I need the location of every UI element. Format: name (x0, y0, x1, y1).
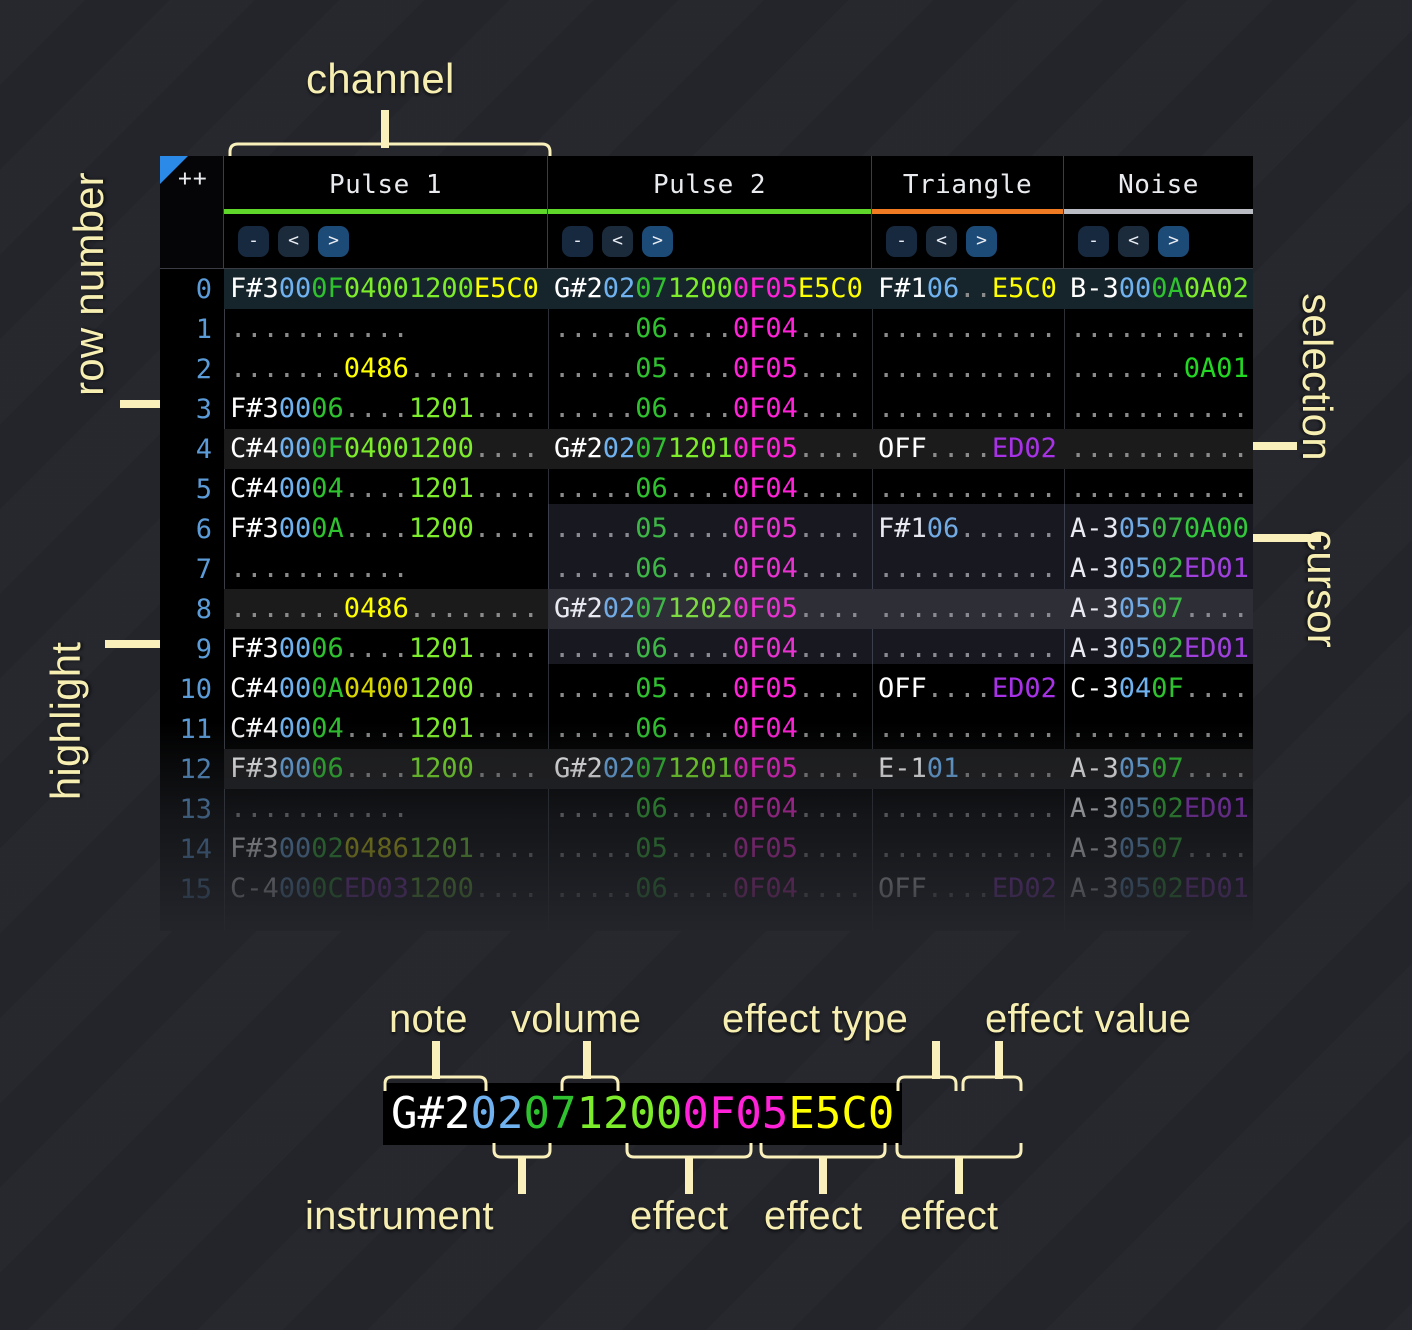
cell-segment-vol: 07 (635, 753, 668, 784)
channel-buttons-pulse2[interactable]: - < > (548, 214, 872, 268)
pattern-row[interactable]: 9F#30006....1201.........06....0F04.....… (160, 629, 1253, 669)
pattern-body[interactable]: 0F#3000F04001200E5C0G#2020712000F05E5C0F… (160, 269, 1253, 931)
cell-segment-fxy: E5C0 (798, 273, 863, 304)
cell-segment-dot: .... (798, 353, 863, 384)
annotation-row-number: row number (65, 172, 113, 396)
pattern-cell[interactable]: .......0486........ (230, 589, 539, 629)
pattern-cell[interactable]: C#40004....1201.... (230, 469, 539, 509)
cell-segment-note: F#3 (230, 513, 279, 544)
tracker-grid[interactable]: ++ Pulse 1 - < > Pulse 2 - < > Triangle … (160, 156, 1253, 931)
row-cells[interactable]: F#3000F04001200E5C0G#2020712000F05E5C0F#… (224, 269, 1253, 309)
channel-header-pulse2[interactable]: Pulse 2 (548, 156, 872, 214)
row-cells[interactable]: F#30006....1200....G#2020712010F05....E-… (224, 749, 1253, 789)
annotation-effect-type: effect type (722, 997, 908, 1042)
cell-segment-note: C#4 (230, 433, 279, 464)
cell-segment-inst: 04 (1119, 673, 1152, 704)
cell-segment-dot: .... (798, 393, 863, 424)
pattern-cell[interactable]: F#30006....1201.... (230, 389, 539, 429)
cell-segment-dot: .... (344, 473, 409, 504)
cell-segment-vol: 04 (311, 473, 344, 504)
cell-segment-dot: ..... (554, 353, 635, 384)
pattern-cell[interactable]: .....06....0F04.... (554, 389, 863, 429)
mute-button[interactable]: - (238, 226, 269, 257)
cell-segment-fxg: 1200 (409, 873, 474, 904)
pattern-row[interactable]: 13................06....0F04............… (160, 789, 1253, 829)
row-cells[interactable]: ................06....0F04..............… (224, 789, 1253, 829)
row-number: 11 (160, 714, 224, 745)
cell-segment-dot: .... (344, 753, 409, 784)
cell-segment-fxm: 0F05 (733, 273, 798, 304)
row-number: 15 (160, 874, 224, 905)
pattern-cell[interactable]: ........... (1070, 429, 1249, 469)
cell-segment-vol: 0F (311, 433, 344, 464)
cell-segment-note: F#3 (230, 273, 279, 304)
row-cells[interactable]: .......0486........G#2020712020F05......… (224, 589, 1253, 629)
cell-segment-fxp: ED03 (344, 873, 409, 904)
pattern-cell[interactable]: F#106...... (878, 509, 1057, 549)
cell-segment-vol: 05 (635, 353, 668, 384)
row-number: 9 (160, 634, 224, 665)
row-cells[interactable]: C#40004....1201.........06....0F04......… (224, 469, 1253, 509)
pattern-cell[interactable]: ........... (1070, 469, 1249, 509)
pattern-row[interactable]: 10C#4000A04001200.........05....0F05....… (160, 669, 1253, 709)
cell-segment-dot: ........ (409, 353, 539, 384)
cell-segment-dot: ........... (1070, 393, 1249, 424)
cell-segment-fxm: 0F05 (733, 353, 798, 384)
cell-segment-inst: 05 (1119, 753, 1152, 784)
cell-segment-fxp: ED01 (1184, 553, 1249, 584)
cell-segment-inst: 00 (279, 273, 312, 304)
cell-segment-dot: ..... (554, 553, 635, 584)
pattern-cell[interactable]: G#2020712010F05.... (554, 429, 863, 469)
annotation-volume: volume (511, 997, 641, 1042)
cell-segment-dot: ..... (554, 833, 635, 864)
cell-segment-note: C#4 (230, 473, 279, 504)
row-cells[interactable]: F#30006....1201.........06....0F04......… (224, 629, 1253, 669)
cell-segment-dot: ....... (1070, 353, 1184, 384)
pattern-cell[interactable]: ........... (878, 709, 1057, 749)
cell-segment-note: A-3 (1070, 873, 1119, 904)
pattern-cell[interactable]: A-30502ED01 (1070, 789, 1249, 829)
row-number: 1 (160, 314, 224, 345)
row-number: 6 (160, 514, 224, 545)
row-cells[interactable]: C#4000F04001200....G#2020712010F05....OF… (224, 429, 1253, 469)
cell-segment-fxg: 1201 (409, 393, 474, 424)
cell-segment-inst: 00 (279, 753, 312, 784)
cell-segment-dot: ..... (554, 513, 635, 544)
pattern-cell[interactable]: ........... (878, 469, 1057, 509)
prev-button[interactable]: < (926, 226, 957, 257)
cell-segment-vol2: 0A01 (1184, 353, 1249, 384)
pattern-row[interactable]: 14F#3000204861201.........05....0F05....… (160, 829, 1253, 869)
pattern-cell[interactable]: ........... (878, 389, 1057, 429)
row-number: 3 (160, 394, 224, 425)
row-cells[interactable]: F#3000A....1200.........05....0F05....F#… (224, 509, 1253, 549)
pattern-row[interactable]: 12F#30006....1200....G#2020712010F05....… (160, 749, 1253, 789)
pattern-cell[interactable]: F#30006....1201.... (230, 629, 539, 669)
row-cells[interactable]: .......0486.............05....0F05......… (224, 349, 1253, 389)
pattern-cell[interactable]: ........... (878, 829, 1057, 869)
annotation-instrument: instrument (305, 1194, 494, 1239)
pattern-cell[interactable]: ........... (878, 349, 1057, 389)
pattern-cell[interactable]: .....05....0F05.... (554, 349, 863, 389)
cell-segment-dot: .... (668, 353, 733, 384)
pattern-cell[interactable]: C#4000A04001200.... (230, 669, 539, 709)
cell-segment-fxg: 0400 (344, 433, 409, 464)
row-cells[interactable]: C#40004....1201.........06....0F04......… (224, 709, 1253, 749)
cell-segment-vol: 06 (635, 793, 668, 824)
pattern-cell[interactable]: G#2020712010F05.... (554, 749, 863, 789)
pattern-cell[interactable]: G#2020712000F05E5C0 (554, 269, 863, 309)
pattern-cell[interactable]: .....06....0F04.... (554, 309, 863, 349)
pattern-row[interactable]: 2.......0486.............05....0F05.....… (160, 349, 1253, 389)
cell-segment-vol: 06 (635, 873, 668, 904)
cell-segment-dot: ........... (230, 313, 409, 344)
cell-segment-vol: 05 (635, 513, 668, 544)
cell-segment-vol: 06 (311, 753, 344, 784)
cell-segment-dot: .... (798, 673, 863, 704)
cell-segment-inst: 05 (1119, 513, 1152, 544)
cell-segment-fxm: 0F04 (733, 713, 798, 744)
legend-segment-fxg: 1200 (576, 1088, 682, 1139)
cell-segment-dot: ........... (878, 313, 1057, 344)
cell-segment-note: F#3 (230, 633, 279, 664)
cell-segment-vol: 0C (311, 873, 344, 904)
row-number: 5 (160, 474, 224, 505)
effect-type-leader-line (932, 1041, 940, 1079)
cell-segment-fxm: 0F04 (733, 553, 798, 584)
cell-segment-vol2: 0A00 (1184, 513, 1249, 544)
pattern-cell[interactable]: ........... (1070, 309, 1249, 349)
cell-segment-dot: .... (1184, 593, 1249, 624)
cell-segment-dot: .... (668, 313, 733, 344)
pattern-cell[interactable]: F#3000F04001200E5C0 (230, 269, 539, 309)
cell-segment-note: A-3 (1070, 633, 1119, 664)
pattern-row[interactable]: 4C#4000F04001200....G#2020712010F05....O… (160, 429, 1253, 469)
pattern-cell[interactable]: ........... (878, 629, 1057, 669)
mute-button[interactable]: - (1078, 226, 1109, 257)
cell-segment-dot: .... (474, 633, 539, 664)
cell-segment-inst: 02 (603, 593, 636, 624)
cell-segment-fxg: 1200 (668, 273, 733, 304)
pattern-cell[interactable]: G#2020712020F05.... (554, 589, 863, 629)
channel-header-pulse1[interactable]: Pulse 1 (224, 156, 548, 214)
prev-button[interactable]: < (278, 226, 309, 257)
mute-button[interactable]: - (886, 226, 917, 257)
legend-segment-fxm: 0F05 (682, 1088, 788, 1139)
cell-segment-dot: ........... (878, 393, 1057, 424)
pattern-cell[interactable]: ........... (878, 589, 1057, 629)
cell-segment-inst: 00 (279, 633, 312, 664)
cell-segment-dot: .... (474, 513, 539, 544)
pattern-cell[interactable]: ........... (1070, 709, 1249, 749)
cell-segment-inst: 02 (603, 273, 636, 304)
cell-segment-dot: ..... (554, 873, 635, 904)
pattern-cell[interactable]: F#106..E5C0 (878, 269, 1057, 309)
pattern-cell[interactable]: A-30502ED01 (1070, 869, 1249, 909)
cell-segment-dot: ........... (878, 593, 1057, 624)
pattern-row[interactable]: 7................06....0F04.............… (160, 549, 1253, 589)
channel-header-triangle[interactable]: Triangle (872, 156, 1064, 214)
cell-segment-fxp: ED01 (1184, 633, 1249, 664)
pattern-cell[interactable]: C#40004....1201.... (230, 709, 539, 749)
row-number: 12 (160, 754, 224, 785)
cell-segment-fxm: 0F05 (733, 593, 798, 624)
pattern-cell[interactable]: A-30502ED01 (1070, 549, 1249, 589)
row-number: 14 (160, 834, 224, 865)
cell-segment-note: G#2 (554, 433, 603, 464)
pattern-cell[interactable]: ........... (230, 549, 409, 589)
pattern-cell[interactable]: OFF....ED02 (878, 429, 1057, 469)
cell-segment-note: F#1 (878, 273, 927, 304)
pattern-row[interactable]: 6F#3000A....1200.........05....0F05....F… (160, 509, 1253, 549)
cell-segment-dot: .... (668, 793, 733, 824)
cell-segment-vol: 05 (635, 673, 668, 704)
cell-segment-dot: ........... (1070, 713, 1249, 744)
pattern-cell[interactable]: ........... (878, 789, 1057, 829)
cell-segment-fxm: 0F04 (733, 473, 798, 504)
cell-segment-dot: .... (927, 873, 992, 904)
pattern-cell[interactable]: A-30507.... (1070, 749, 1249, 789)
cell-segment-dot: .... (798, 793, 863, 824)
cell-segment-dot: .... (798, 313, 863, 344)
pattern-cell[interactable]: C#4000F04001200.... (230, 429, 539, 469)
cell-segment-note: C#4 (230, 713, 279, 744)
channel-name: Pulse 2 (653, 170, 766, 200)
cell-segment-dot: ........... (878, 473, 1057, 504)
channel-buttons-noise[interactable]: - < > (1064, 214, 1253, 268)
cell-segment-fxm: 0F04 (733, 393, 798, 424)
cell-segment-dot: .... (474, 473, 539, 504)
pattern-cell[interactable]: .....05....0F05.... (554, 829, 863, 869)
cell-segment-vol: 02 (1151, 873, 1184, 904)
legend-pattern-cell: G#2020712000F05E5C0 (383, 1083, 902, 1145)
row-cells[interactable]: C-4000CED031200.........06....0F04....OF… (224, 869, 1253, 909)
next-button[interactable]: > (318, 226, 349, 257)
pattern-cell[interactable]: A-30502ED01 (1070, 629, 1249, 669)
annotation-note: note (389, 997, 468, 1042)
legend-segment-note: G#2 (391, 1088, 470, 1139)
effect2-leader-line (819, 1156, 827, 1194)
pattern-row[interactable]: 8.......0486........G#2020712020F05.....… (160, 589, 1253, 629)
cell-segment-dot: .... (798, 553, 863, 584)
pattern-cell[interactable]: .....06....0F04.... (554, 709, 863, 749)
row-cells[interactable]: ................06....0F04..............… (224, 309, 1253, 349)
note-bracket (383, 1075, 488, 1091)
row-number: 10 (160, 674, 224, 705)
pattern-cell[interactable]: .....06....0F04.... (554, 549, 863, 589)
cell-segment-vol: 06 (311, 633, 344, 664)
cell-segment-note: B-3 (1070, 273, 1119, 304)
cell-segment-dot: ...... (959, 753, 1057, 784)
cell-segment-fxg: 1200 (409, 433, 474, 464)
pattern-cell[interactable]: A-305070A00 (1070, 509, 1249, 549)
cell-segment-dot: .... (668, 713, 733, 744)
cell-segment-fxg: 1201 (409, 713, 474, 744)
pattern-cell[interactable]: .....06....0F04.... (554, 789, 863, 829)
cell-segment-vol: 07 (635, 593, 668, 624)
cell-segment-dot: ..... (554, 673, 635, 704)
pattern-cell[interactable]: .....05....0F05.... (554, 669, 863, 709)
pattern-cell[interactable]: OFF....ED02 (878, 869, 1057, 909)
cell-segment-note: A-3 (1070, 833, 1119, 864)
prev-button[interactable]: < (602, 226, 633, 257)
cell-segment-vol: 06 (635, 393, 668, 424)
channel-buttons-triangle[interactable]: - < > (872, 214, 1064, 268)
cell-segment-vol: 04 (311, 713, 344, 744)
pattern-cell[interactable]: .......0486........ (230, 349, 539, 389)
cell-segment-dot: .... (798, 633, 863, 664)
cell-segment-dot: ...... (959, 513, 1057, 544)
cell-segment-vol: 0F (311, 273, 344, 304)
cell-segment-vol: 07 (1151, 833, 1184, 864)
channel-header-noise[interactable]: Noise (1064, 156, 1253, 214)
cell-segment-inst: 00 (279, 673, 312, 704)
pattern-cell[interactable]: F#3000A....1200.... (230, 509, 539, 549)
row-cells[interactable]: F#30006....1201.........06....0F04......… (224, 389, 1253, 429)
cell-segment-fxg: 1201 (668, 753, 733, 784)
cell-segment-dot: .... (668, 513, 733, 544)
cell-segment-dot: ........ (409, 593, 539, 624)
prev-button[interactable]: < (1118, 226, 1149, 257)
row-number: 2 (160, 354, 224, 385)
pattern-cell[interactable]: .......0A01 (1070, 349, 1249, 389)
cell-segment-vol: 0A (1151, 273, 1184, 304)
cell-segment-note: A-3 (1070, 793, 1119, 824)
pattern-cell[interactable]: ........... (230, 789, 409, 829)
cell-segment-fxg: 1200 (409, 273, 474, 304)
pattern-cell[interactable]: .....06....0F04.... (554, 869, 863, 909)
cell-segment-dot: .... (668, 833, 733, 864)
pattern-cell[interactable]: ........... (878, 309, 1057, 349)
cell-segment-dot: ........... (1070, 313, 1249, 344)
pattern-cell[interactable]: E-101...... (878, 749, 1057, 789)
cell-segment-dot: ........... (1070, 473, 1249, 504)
pattern-cell[interactable]: ........... (230, 309, 409, 349)
pattern-cell[interactable]: F#3000204861201.... (230, 829, 539, 869)
channel-name: Triangle (903, 170, 1032, 200)
pattern-cell[interactable]: C-3040F.... (1070, 669, 1249, 709)
channel-name: Pulse 1 (329, 170, 442, 200)
pattern-cell[interactable]: B-3000A0A02 (1070, 269, 1249, 309)
cell-segment-dot: .... (798, 713, 863, 744)
annotation-highlight: highlight (42, 642, 90, 800)
cell-segment-dot: ..... (554, 633, 635, 664)
cell-segment-dot: ..... (554, 393, 635, 424)
cell-segment-dot: ..... (554, 473, 635, 504)
cell-segment-fxg: 1201 (409, 633, 474, 664)
cell-segment-dot: ........... (878, 713, 1057, 744)
pattern-cell[interactable]: F#30006....1200.... (230, 749, 539, 789)
pattern-cell[interactable]: A-30507.... (1070, 829, 1249, 869)
row-cells[interactable]: C#4000A04001200.........05....0F05....OF… (224, 669, 1253, 709)
pattern-row[interactable]: 11C#40004....1201.........06....0F04....… (160, 709, 1253, 749)
next-button[interactable]: > (642, 226, 673, 257)
channel-name: Noise (1118, 170, 1199, 200)
cell-segment-fxm: 0F04 (733, 633, 798, 664)
cell-segment-fxg: 1200 (409, 673, 474, 704)
pattern-cell[interactable]: C-4000CED031200.... (230, 869, 539, 909)
row-cells[interactable]: ................06....0F04..............… (224, 549, 1253, 589)
cell-segment-dot: .... (1184, 833, 1249, 864)
effect1-leader-line (685, 1156, 693, 1194)
cell-segment-dot: ..... (554, 313, 635, 344)
annotation-effect-3: effect (900, 1194, 998, 1239)
effect-value-leader-line (995, 1041, 1003, 1079)
cell-segment-fxg: 1201 (409, 833, 474, 864)
pattern-cell[interactable]: .....06....0F04.... (554, 469, 863, 509)
next-button[interactable]: > (1158, 226, 1189, 257)
cell-segment-fxp: ED02 (992, 873, 1057, 904)
note-leader-line (432, 1041, 440, 1079)
cell-segment-fxm: 0F05 (733, 433, 798, 464)
cell-segment-dot: .... (798, 473, 863, 504)
cell-segment-dot: .... (474, 873, 539, 904)
cell-segment-vol: 07 (635, 433, 668, 464)
row-number: 4 (160, 434, 224, 465)
row-number-header[interactable]: ++ (160, 156, 224, 268)
pattern-row[interactable]: 3F#30006....1201.........06....0F04.....… (160, 389, 1253, 429)
pattern-row[interactable]: 1................06....0F04.............… (160, 309, 1253, 349)
mute-button[interactable]: - (562, 226, 593, 257)
pattern-row[interactable]: 5C#40004....1201.........06....0F04.....… (160, 469, 1253, 509)
cell-segment-fxg: 1201 (409, 473, 474, 504)
pattern-cell[interactable]: OFF....ED02 (878, 669, 1057, 709)
cell-segment-fxy: E5C0 (474, 273, 539, 304)
cell-segment-fxm: 0F05 (733, 513, 798, 544)
cell-segment-dot: .... (668, 673, 733, 704)
pattern-row[interactable]: 0F#3000F04001200E5C0G#2020712000F05E5C0F… (160, 269, 1253, 309)
cell-segment-note: E-1 (878, 753, 927, 784)
pattern-cell[interactable]: ........... (878, 549, 1057, 589)
cell-segment-note: C-4 (230, 873, 279, 904)
pattern-cell[interactable]: .....05....0F05.... (554, 509, 863, 549)
cell-segment-note: A-3 (1070, 593, 1119, 624)
cell-segment-dot: ........... (878, 633, 1057, 664)
cell-segment-inst: 06 (927, 273, 960, 304)
cell-segment-fxy2: 0400 (344, 673, 409, 704)
pattern-cell[interactable]: ........... (1070, 389, 1249, 429)
cell-segment-dot: .... (668, 873, 733, 904)
cell-segment-dot: .... (474, 833, 539, 864)
cell-segment-dot: .... (927, 433, 992, 464)
instrument-leader-line (518, 1156, 526, 1194)
volume-leader-line (583, 1041, 591, 1079)
pattern-cell[interactable]: A-30507.... (1070, 589, 1249, 629)
pattern-row[interactable]: 15C-4000CED031200.........06....0F04....… (160, 869, 1253, 909)
cell-segment-note: F#1 (878, 513, 927, 544)
cell-segment-inst: 00 (279, 393, 312, 424)
row-number: 8 (160, 594, 224, 625)
channel-buttons-pulse1[interactable]: - < > (224, 214, 548, 268)
pattern-cell[interactable]: .....06....0F04.... (554, 629, 863, 669)
row-number: 0 (160, 274, 224, 305)
cell-segment-inst: 00 (279, 833, 312, 864)
cell-segment-dot: .... (344, 633, 409, 664)
cell-segment-note: OFF (878, 673, 927, 704)
cell-segment-dot: ........... (878, 833, 1057, 864)
cell-segment-inst: 05 (1119, 793, 1152, 824)
cell-segment-dot: .... (474, 433, 539, 464)
cell-segment-vol: 02 (1151, 553, 1184, 584)
row-cells[interactable]: F#3000204861201.........05....0F05......… (224, 829, 1253, 869)
cell-segment-fxg: 1200 (409, 513, 474, 544)
cell-segment-dot: .... (1184, 673, 1249, 704)
next-button[interactable]: > (966, 226, 997, 257)
cell-segment-vol: 06 (635, 633, 668, 664)
cell-segment-fxy: E5C0 (992, 273, 1057, 304)
cell-segment-dot: .... (798, 873, 863, 904)
